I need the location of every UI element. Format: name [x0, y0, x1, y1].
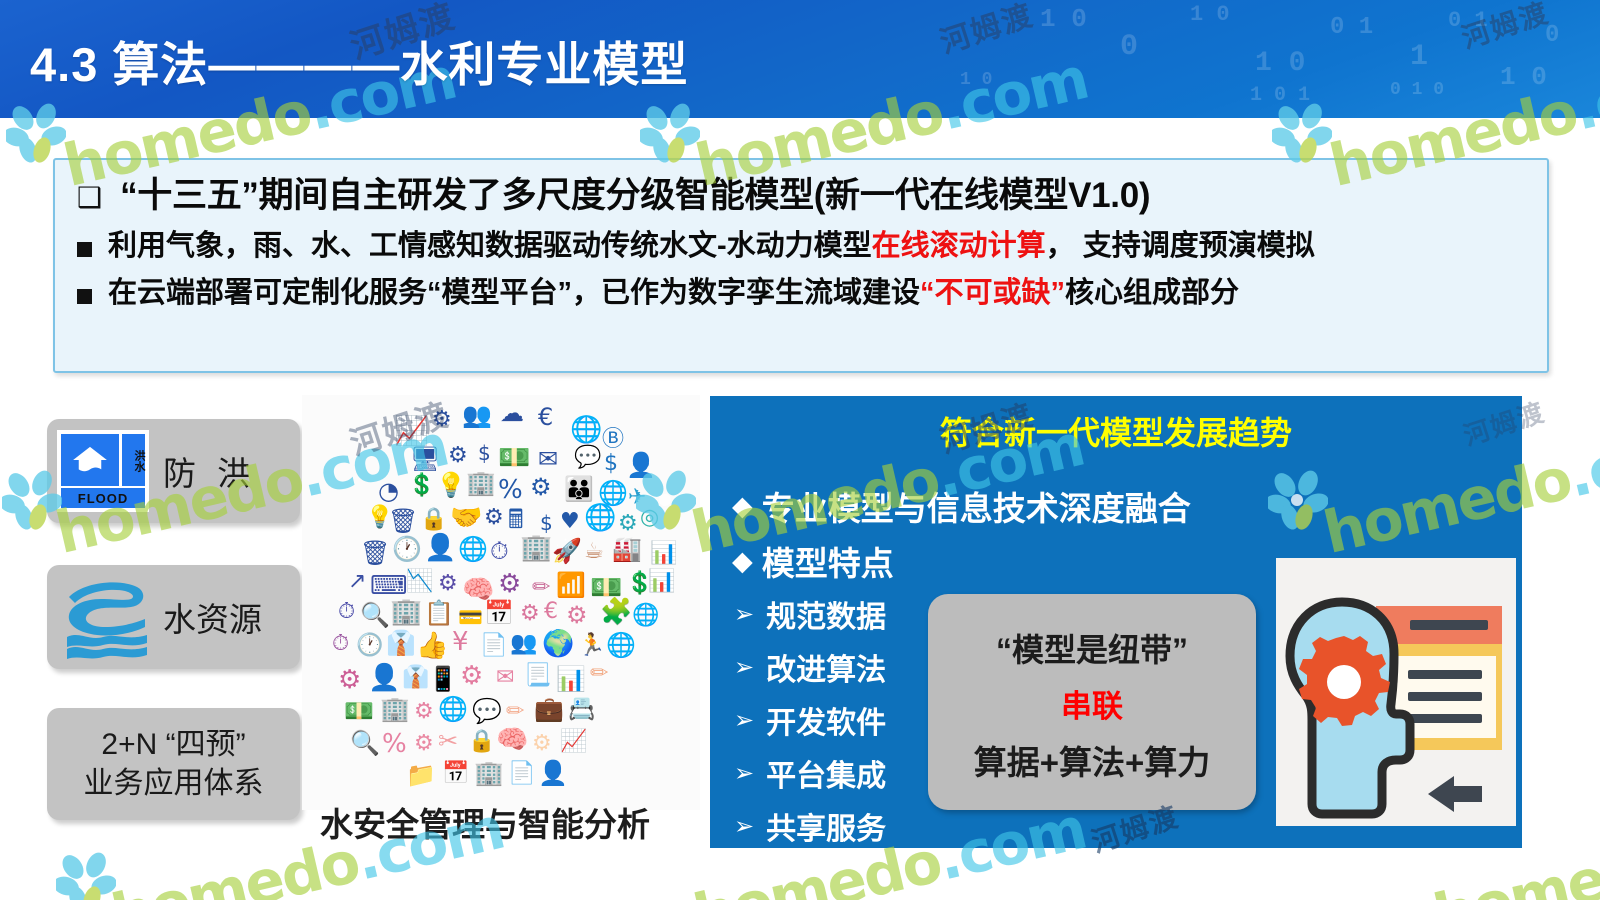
- binary-deco: 1 0: [1255, 48, 1305, 79]
- homedo-flower-logo-icon: [636, 470, 696, 530]
- binary-deco: 1 0: [960, 70, 992, 90]
- collage-icon: 🔍: [350, 731, 380, 755]
- collage-icon: 📅: [484, 601, 514, 625]
- collage-icon: ⚙: [484, 507, 504, 529]
- flood-logo-vertical-text: 洪水: [122, 434, 145, 486]
- arrow-right-bullet-icon: ➢: [734, 812, 754, 841]
- collage-icon: ⚙: [618, 513, 638, 535]
- binary-deco: 0: [1545, 22, 1559, 49]
- collage-icon: ✏: [590, 663, 608, 685]
- collage-icon: ✉: [538, 447, 558, 471]
- collage-icon: 📄: [508, 763, 535, 785]
- collage-icon: ⚙: [530, 475, 552, 499]
- collage-icon: 🌐: [598, 481, 628, 505]
- callout-line-1: “模型是纽带”: [996, 625, 1188, 671]
- collage-icon: %: [498, 477, 523, 503]
- collage-icon: 📃: [524, 665, 551, 687]
- infobox-line-3-text-b: 核心组成部分: [1065, 277, 1239, 310]
- collage-icon: 🚀: [552, 539, 582, 563]
- collage-icon: ⚙: [498, 571, 521, 597]
- pill-flood-control[interactable]: 洪水 FLOOD 防 洪: [47, 419, 300, 523]
- collage-icon: ☁: [500, 401, 524, 425]
- panel-subheading-1-label: 专业模型与信息技术深度融合: [762, 482, 1191, 530]
- collage-icon: 💵: [344, 699, 374, 723]
- infobox-line-3: 在云端部署可定制化服务“模型平台”，已作为数字孪生流域建设 “不可或缺” 核心组…: [77, 277, 1527, 310]
- collage-icon: 🌐: [570, 417, 602, 443]
- collage-icon: 🖩: [508, 507, 524, 533]
- model-bond-callout: “模型是纽带” 串联 算据+算法+算力: [928, 594, 1256, 810]
- collage-icon: ⚙: [520, 603, 540, 625]
- collage-icon: $: [604, 453, 618, 475]
- flood-logo-bottom-text: FLOOD: [61, 488, 145, 508]
- slide-canvas: 1 0 0 1 0 1 0 0 1 1 0 1 1 0 0 1 0 1 0 1 …: [0, 0, 1600, 900]
- collage-icon: ✏: [532, 577, 550, 599]
- infobox-line-1: ❑ “十三五”期间自主研发了多尺度分级智能模型(新一代在线模型V1.0): [77, 176, 1527, 216]
- pill-business-system-label-line1: 2+N “四预”: [101, 725, 245, 764]
- collage-icon: 📋: [424, 601, 454, 625]
- collage-icon: ⚙: [566, 603, 588, 627]
- collage-icon: 🌐: [438, 697, 468, 721]
- collage-icon: 📇: [568, 699, 595, 721]
- collage-icon: 💳: [458, 607, 483, 627]
- list-item[interactable]: ➢ 共享服务: [734, 804, 886, 848]
- brain-gear-icon: [1276, 558, 1516, 826]
- brain-gear-card-image: [1276, 558, 1516, 826]
- homedo-flower-logo-icon: [1268, 470, 1328, 530]
- list-item[interactable]: ➢ 平台集成: [734, 751, 886, 795]
- collage-icon: ↗: [348, 571, 366, 593]
- collage-icon: 📈: [560, 731, 587, 753]
- collage-icon: 💵: [498, 445, 530, 471]
- list-item[interactable]: ➢ 规范数据: [734, 592, 886, 636]
- model-trend-panel: 符合新一代模型发展趋势 ◆ 专业模型与信息技术深度融合 ◆ 模型特点 ➢ 规范数…: [710, 396, 1522, 848]
- collage-icon: 🏢: [474, 761, 504, 785]
- collage-icon: 📱: [428, 667, 458, 691]
- collage-icon: ☕: [584, 541, 604, 563]
- infobox-line-2-text-a: 利用气象，雨、水、工情感知数据驱动传统水文-水动力模型: [108, 230, 872, 263]
- collage-icon: 👤: [368, 665, 400, 691]
- collage-icon: €: [538, 405, 553, 429]
- collage-icon: ⏱: [490, 539, 509, 563]
- collage-icon: 📊: [648, 571, 675, 593]
- collage-icon: €: [544, 601, 558, 623]
- collage-icon: ⚙: [432, 409, 452, 431]
- collage-icon: 🏭: [612, 537, 642, 561]
- homedo-flower-logo-icon: [2, 470, 62, 530]
- collage-icon: 👥: [462, 403, 492, 427]
- water-wave-logo-icon: [59, 575, 155, 659]
- collage-icon: ⚙: [532, 733, 552, 755]
- collage-icon: ⚙: [460, 663, 483, 689]
- collage-icon: ⚙: [414, 733, 434, 755]
- collage-icon: ◔: [378, 479, 399, 503]
- collage-icon: 🕐: [392, 537, 422, 561]
- pill-business-system[interactable]: 2+N “四预” 业务应用体系: [47, 708, 300, 820]
- collage-icon: 👤: [538, 761, 568, 785]
- panel-heading: 符合新一代模型发展趋势: [710, 408, 1522, 454]
- collage-icon: 💬: [472, 699, 502, 723]
- arrow-right-bullet-icon: ➢: [734, 759, 754, 788]
- model-feature-list: ➢ 规范数据 ➢ 改进算法 ➢ 开发软件 ➢ 平台集成 ➢ 共享服务: [734, 592, 886, 848]
- binary-deco: 0 1 0: [1390, 80, 1444, 100]
- homedo-flower-logo-icon: [56, 852, 116, 900]
- binary-deco: 1: [1410, 40, 1428, 74]
- collage-icon: 🕐: [356, 635, 383, 657]
- arrow-right-bullet-icon: ➢: [734, 706, 754, 735]
- pill-business-system-label-line2: 业务应用体系: [84, 764, 264, 803]
- callout-line-2-highlight: 串联: [1061, 681, 1123, 726]
- flood-logo-icon: 洪水 FLOOD: [57, 430, 149, 512]
- pill-water-resources[interactable]: 水资源: [47, 565, 300, 669]
- infobox-line-2: 利用气象，雨、水、工情感知数据驱动传统水文-水动力模型在线滚动计算， 支持调度预…: [77, 230, 1527, 263]
- collage-icon: 🌐: [606, 633, 636, 657]
- collage-icon: 👍: [416, 633, 448, 659]
- collage-icon: 🔒: [420, 509, 447, 531]
- collage-icon: 🔍: [360, 603, 390, 627]
- collage-icon: 🏢: [466, 471, 496, 495]
- panel-subheading-2-label: 模型特点: [762, 537, 894, 585]
- collage-icon: 🌐: [584, 505, 616, 531]
- collage-icon: 🗑: [388, 509, 418, 533]
- binary-deco: 0 1: [1330, 14, 1373, 41]
- collage-caption: 水安全管理与智能分析: [320, 798, 650, 846]
- list-item-label: 平台集成: [766, 751, 886, 795]
- collage-icon: 🏢: [520, 535, 552, 561]
- callout-line-3: 算据+算法+算力: [974, 736, 1211, 784]
- collage-icon: 🏃: [578, 635, 605, 657]
- collage-icon: ✏: [506, 701, 524, 723]
- panel-subheading-1: ◆ 专业模型与信息技术深度融合: [732, 482, 1191, 530]
- list-item-label: 开发软件: [766, 698, 886, 742]
- binary-deco: 0: [1120, 30, 1138, 64]
- collage-icon: 📊: [556, 667, 586, 691]
- list-item-label: 共享服务: [766, 804, 886, 848]
- collage-icon: 🗑: [360, 541, 390, 565]
- list-item[interactable]: ➢ 改进算法: [734, 645, 886, 689]
- house-icon: [71, 445, 109, 475]
- panel-subheading-2: ◆ 模型特点: [732, 537, 894, 585]
- collage-icon: 🔒: [468, 731, 495, 753]
- collage-icon: 👔: [402, 667, 429, 689]
- collage-icon: %: [382, 731, 407, 757]
- collage-icon: ⚙: [414, 701, 434, 723]
- collage-icon: 📅: [442, 763, 469, 785]
- collage-icon: ⚙: [448, 445, 468, 467]
- collage-icon: 👪: [564, 477, 594, 501]
- collage-icon: 🧠: [496, 727, 528, 753]
- collage-icon: 🏢: [380, 697, 410, 721]
- collage-icon: ♥: [560, 511, 580, 533]
- collage-icon: ✉: [496, 667, 514, 689]
- collage-icon: 💼: [534, 697, 564, 721]
- collage-icon: 📊: [650, 543, 677, 565]
- binary-deco: 1 0: [1500, 62, 1547, 92]
- binary-deco: 1 0: [1190, 2, 1230, 27]
- collage-icon: $: [540, 513, 553, 533]
- homedo-flower-logo-icon: [640, 103, 700, 163]
- collage-icon: 💲: [408, 475, 435, 497]
- collage-icon: ⏱: [332, 633, 349, 655]
- binary-deco: 1 0: [1040, 4, 1087, 34]
- diamond-bullet-icon: ◆: [732, 491, 753, 522]
- collage-icon: $: [478, 443, 491, 463]
- highlight-info-box: ❑ “十三五”期间自主研发了多尺度分级智能模型(新一代在线模型V1.0) 利用气…: [53, 158, 1549, 373]
- collage-icon: 📄: [480, 635, 507, 657]
- infobox-line-3-highlight: “不可或缺”: [920, 277, 1065, 310]
- collage-icon: ⌨: [370, 573, 408, 599]
- hollow-square-bullet-icon: ❑: [77, 184, 102, 212]
- collage-icon: 📁: [406, 763, 436, 787]
- diamond-bullet-icon: ◆: [732, 546, 753, 577]
- collage-icon: 👔: [386, 631, 416, 655]
- pill-water-resources-label: 水资源: [163, 593, 262, 641]
- binary-deco: 0 1: [1448, 8, 1488, 33]
- collage-icon: ⚙: [438, 573, 458, 595]
- pill-flood-control-label: 防 洪: [163, 447, 256, 495]
- collage-icon: 👤: [424, 535, 456, 561]
- collage-icon: 🖥: [410, 447, 440, 471]
- collage-icon: 🏢: [390, 599, 422, 625]
- collage-icon: 🧩: [600, 599, 632, 625]
- collage-icon: Ⓑ: [602, 429, 624, 451]
- list-item-label: 改进算法: [766, 645, 886, 689]
- arrow-right-bullet-icon: ➢: [734, 600, 754, 629]
- homedo-flower-logo-icon: [1272, 103, 1332, 163]
- collage-icon: ⏱: [338, 601, 355, 623]
- collage-icon: ¥: [452, 629, 469, 655]
- collage-icon: 📶: [556, 573, 586, 597]
- homedo-flower-logo-icon: [6, 103, 66, 163]
- collage-icon: 💡: [436, 473, 466, 497]
- slide-header: 1 0 0 1 0 1 0 0 1 1 0 1 1 0 0 1 0 1 0 1 …: [0, 0, 1600, 118]
- solid-square-bullet-icon: [77, 242, 92, 257]
- arrow-right-bullet-icon: ➢: [734, 653, 754, 682]
- solid-square-bullet-icon: [77, 289, 92, 304]
- infobox-line-2-text-b: ， 支持调度预演模拟: [1046, 230, 1315, 263]
- collage-icon: 🤝: [450, 505, 482, 531]
- icon-collage-image: 📈 ⚙ 👥 ☁ € 🌐 Ⓑ 🖥 ⚙ $ 💵 ✉ 💬 $ 👤 ◔ 💲 💡 🏢 % …: [302, 395, 700, 810]
- page-title: 4.3 算法————水利专业模型: [30, 26, 688, 95]
- collage-icon: 🌍: [542, 631, 574, 657]
- collage-icon: 🌐: [458, 537, 488, 561]
- collage-icon: 📈: [394, 417, 429, 445]
- collage-icon: 💬: [574, 447, 601, 469]
- list-item[interactable]: ➢ 开发软件: [734, 698, 886, 742]
- infobox-line-3-text-a: 在云端部署可定制化服务“模型平台”，已作为数字孪生流域建设: [108, 277, 920, 310]
- collage-icon: 📉: [406, 571, 433, 593]
- collage-icon: ⚙: [338, 667, 361, 693]
- list-item-label: 规范数据: [766, 592, 886, 636]
- infobox-line-1-text: “十三五”期间自主研发了多尺度分级智能模型(新一代在线模型V1.0): [120, 176, 1150, 216]
- collage-icon: 👥: [510, 633, 537, 655]
- infobox-line-2-highlight: 在线滚动计算: [872, 230, 1046, 263]
- collage-icon: 🌐: [632, 605, 659, 627]
- collage-icon: ✂: [438, 729, 458, 753]
